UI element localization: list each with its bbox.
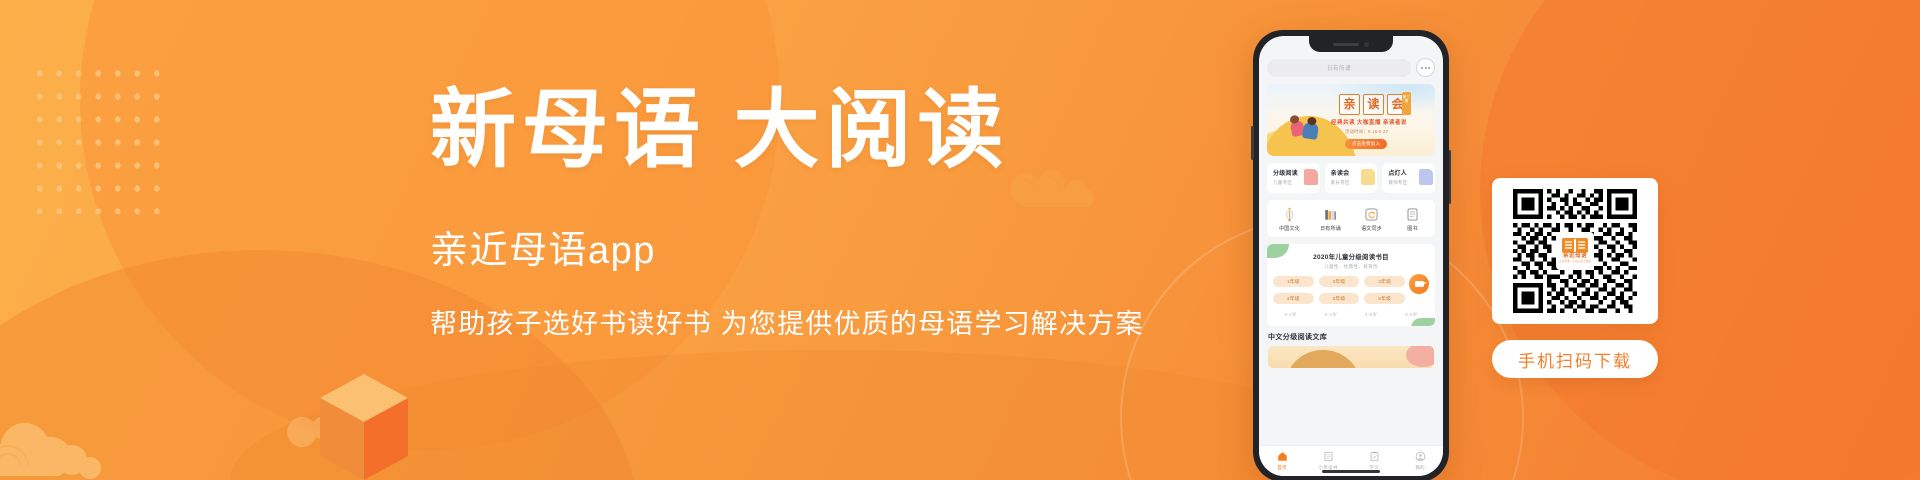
clipboard-check-icon <box>1369 451 1380 462</box>
grade-pill[interactable]: 2年级 <box>1319 276 1360 287</box>
quick-link-textbook-sync[interactable]: 语文同步 <box>1351 207 1392 232</box>
quick-link-label: 语文同步 <box>1361 225 1382 232</box>
quick-link-label: 图书 <box>1407 225 1417 232</box>
open-book-logo-icon <box>1562 238 1588 253</box>
phone-notch <box>1309 36 1393 52</box>
sync-icon <box>1364 207 1379 222</box>
age-pill[interactable]: 0-3岁 <box>1273 309 1308 320</box>
age-pill[interactable]: 4-5岁 <box>1354 309 1389 320</box>
library-blob <box>1406 346 1434 367</box>
tab-label: 我的 <box>1415 465 1425 471</box>
lamp-icon <box>1419 169 1433 185</box>
quick-link-label: 中国文化 <box>1279 225 1300 232</box>
lantern-icon <box>1282 207 1297 222</box>
quick-link-chinese-culture[interactable]: 中国文化 <box>1269 207 1310 232</box>
quick-link-daily-recitation[interactable]: 日有所诵 <box>1310 207 1351 232</box>
age-row: 0-3岁 3-4岁 4-5岁 5-6岁 <box>1273 309 1429 320</box>
banner-tagline: 帮助孩子选好书读好书 为您提供优质的母语学习解决方案 <box>430 302 1110 341</box>
library-section: 中文分级阅读文库 <box>1267 332 1435 368</box>
booklist-subtitle: 儿童性、经典性、教育性 <box>1273 264 1429 270</box>
hero-date: 活动时间：9.16-9.27 <box>1345 129 1388 135</box>
hero-side-tag: 第三期 <box>1402 92 1411 115</box>
download-button[interactable]: 手机扫码下载 <box>1492 340 1658 378</box>
background-hill-arc <box>230 350 1430 480</box>
grade-pill[interactable]: 4年级 <box>1273 293 1314 304</box>
grade-pill[interactable]: 5年级 <box>1319 293 1360 304</box>
qr-code[interactable]: 亲近母语 日有所诵 · 让孩子爱上阅读 <box>1513 189 1637 313</box>
booklist-section: 2020年儿童分级阅读书目 儿童性、经典性、教育性 1年级 2年级 3年级 4年… <box>1267 244 1435 326</box>
grade-pill[interactable]: 3年级 <box>1364 276 1405 287</box>
book-stack-icon <box>1304 169 1318 185</box>
promo-banner: 新母语 大阅读 亲近母语app 帮助孩子选好书读好书 为您提供优质的母语学习解决… <box>0 0 1920 480</box>
tab-profile[interactable]: 我的 <box>1397 451 1443 471</box>
quick-link-label: 日有所诵 <box>1320 225 1341 232</box>
speaker-slot <box>1333 43 1359 46</box>
auspicious-cloud-icon <box>0 374 114 480</box>
search-input[interactable]: 日有所诵 <box>1267 59 1411 77</box>
video-play-icon[interactable] <box>1409 274 1429 294</box>
qr-card: 亲近母语 日有所诵 · 让孩子爱上阅读 <box>1492 178 1658 324</box>
library-title: 中文分级阅读文库 <box>1268 332 1434 342</box>
category-card-reading-club[interactable]: 亲读会 家长专区 <box>1325 163 1378 193</box>
more-dots-icon[interactable] <box>1416 58 1435 77</box>
grade-pill[interactable]: 6年级 <box>1364 293 1405 304</box>
tab-label: 首页 <box>1277 465 1287 471</box>
tab-reading[interactable]: 小步读书 <box>1305 451 1351 471</box>
quick-link-books[interactable]: 图书 <box>1392 207 1433 232</box>
tab-study[interactable]: 学习 <box>1351 451 1397 471</box>
page-title: 新母语 大阅读 <box>430 86 1110 175</box>
library-arc <box>1286 350 1360 368</box>
quick-link-row: 中国文化 日有所诵 <box>1267 200 1435 237</box>
category-cards: 分级阅读 儿童专区 亲读会 家长专区 点灯人 教师专区 <box>1267 163 1435 193</box>
qr-center-logo: 亲近母语 日有所诵 · 让孩子爱上阅读 <box>1556 232 1594 270</box>
book-icon <box>1405 207 1420 222</box>
grade-pill[interactable]: 1年级 <box>1273 276 1314 287</box>
tab-home[interactable]: 首页 <box>1259 451 1305 471</box>
qr-download-block: 亲近母语 日有所诵 · 让孩子爱上阅读 手机扫码下载 <box>1492 178 1658 378</box>
hero-title: 亲 读 会 <box>1339 94 1408 115</box>
leaf-decoration-icon <box>1411 318 1435 326</box>
home-icon <box>1277 451 1288 462</box>
category-card-graded-reading[interactable]: 分级阅读 儿童专区 <box>1267 163 1320 193</box>
category-card-lamplighter[interactable]: 点灯人 教师专区 <box>1382 163 1435 193</box>
user-icon <box>1415 451 1426 462</box>
app-hero-banner[interactable]: 亲 读 会 第三期 经典共读 大咖直播 亲读者说 活动时间：9.16-9.27 … <box>1267 84 1435 156</box>
list-icon <box>1323 451 1334 462</box>
banner-copy: 新母语 大阅读 亲近母语app 帮助孩子选好书读好书 为您提供优质的母语学习解决… <box>430 86 1110 341</box>
app-search-row: 日有所诵 <box>1267 58 1435 77</box>
library-banner[interactable] <box>1268 346 1434 368</box>
app-name-subtitle: 亲近母语app <box>430 219 1110 274</box>
open-book-icon <box>1361 169 1375 185</box>
grade-row-2: 4年级 5年级 6年级 <box>1273 293 1429 304</box>
books-icon <box>1323 207 1338 222</box>
hero-child-right <box>1302 122 1319 140</box>
dot-grid-pattern <box>30 62 170 214</box>
home-indicator <box>1322 470 1380 473</box>
logo-subtitle: 日有所诵 · 让孩子爱上阅读 <box>1559 261 1591 264</box>
hero-title-char: 读 <box>1363 94 1384 115</box>
front-camera <box>1364 42 1369 47</box>
booklist-title: 2020年儿童分级阅读书目 <box>1273 252 1429 261</box>
hero-subtitle: 经典共读 大咖直播 亲读者说 <box>1331 118 1407 126</box>
phone-mockup: 日有所诵 亲 读 会 第三期 经典共读 大咖直播 亲读者说 <box>1253 30 1449 480</box>
cube-decoration-icon <box>316 370 412 480</box>
hero-cta-button[interactable]: 点击免费加入 <box>1345 139 1387 149</box>
age-pill[interactable]: 3-4岁 <box>1313 309 1348 320</box>
phone-screen: 日有所诵 亲 读 会 第三期 经典共读 大咖直播 亲读者说 <box>1259 36 1443 476</box>
hero-title-char: 亲 <box>1339 94 1360 115</box>
auspicious-cloud-small-icon <box>286 402 350 448</box>
grade-row-1: 1年级 2年级 3年级 <box>1273 276 1429 287</box>
